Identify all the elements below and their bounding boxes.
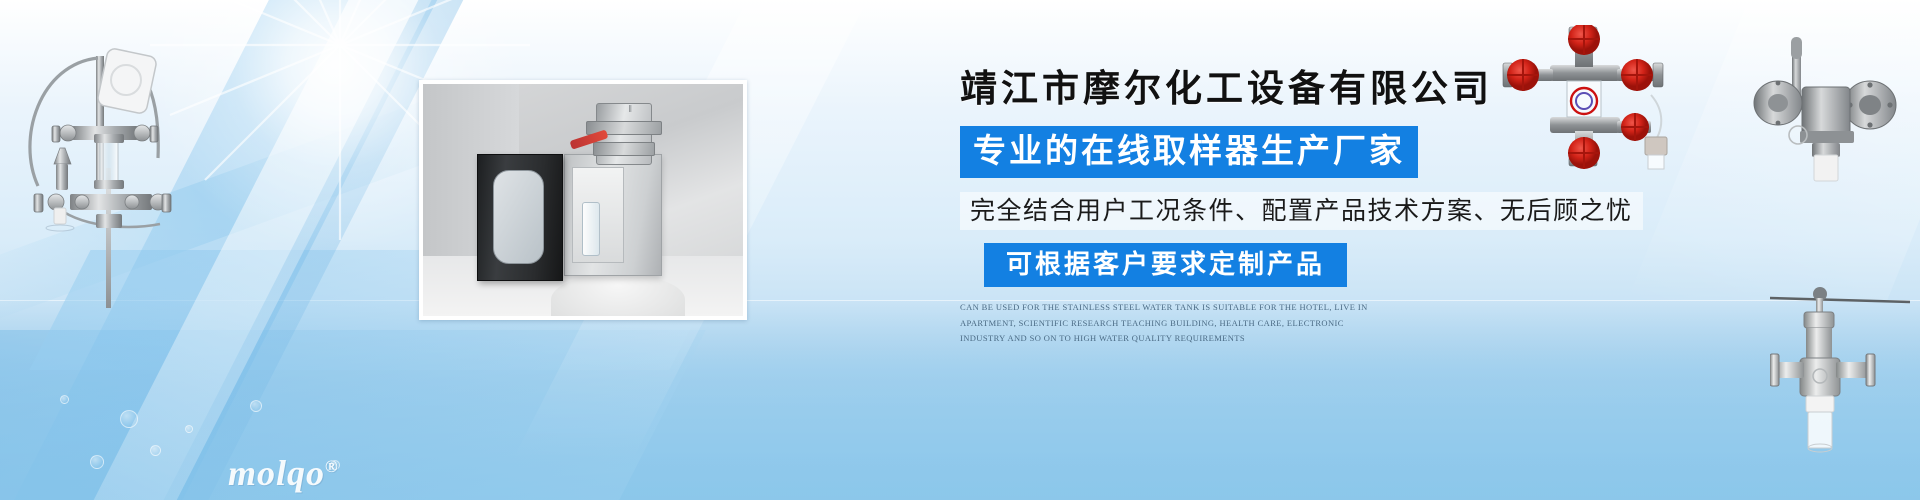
copy-block: 靖江市摩尔化工设备有限公司 专业的在线取样器生产厂家 完全结合用户工况条件、配置…: [960, 68, 1660, 347]
subline-text: 完全结合用户工况条件、配置产品技术方案、无后顾之忧: [960, 192, 1643, 230]
headline-badge: 专业的在线取样器生产厂家: [960, 126, 1418, 178]
registered-mark: ®: [325, 457, 339, 476]
bubble-decor: [150, 445, 161, 456]
right-equipment-needle-valve: [1770, 280, 1910, 465]
bubble-decor: [90, 455, 104, 469]
right-equipment-lever-valve: [1750, 25, 1905, 190]
tagline-badge: 可根据客户要求定制产品: [984, 243, 1347, 287]
promo-banner: 靖江市摩尔化工设备有限公司 专业的在线取样器生产厂家 完全结合用户工况条件、配置…: [0, 0, 1920, 500]
company-name: 靖江市摩尔化工设备有限公司: [960, 68, 1660, 112]
product-photo: [419, 80, 747, 320]
watermark-logo: molqo®: [228, 452, 339, 494]
watermark-logo-text: molqo: [228, 453, 325, 493]
bubble-decor: [250, 400, 262, 412]
bubble-decor: [60, 395, 69, 404]
english-description: CAN BE USED FOR THE STAINLESS STEEL WATE…: [960, 300, 1390, 347]
left-equipment-illustration: [10, 18, 190, 308]
bubble-decor: [185, 425, 193, 433]
bubble-decor: [120, 410, 138, 428]
